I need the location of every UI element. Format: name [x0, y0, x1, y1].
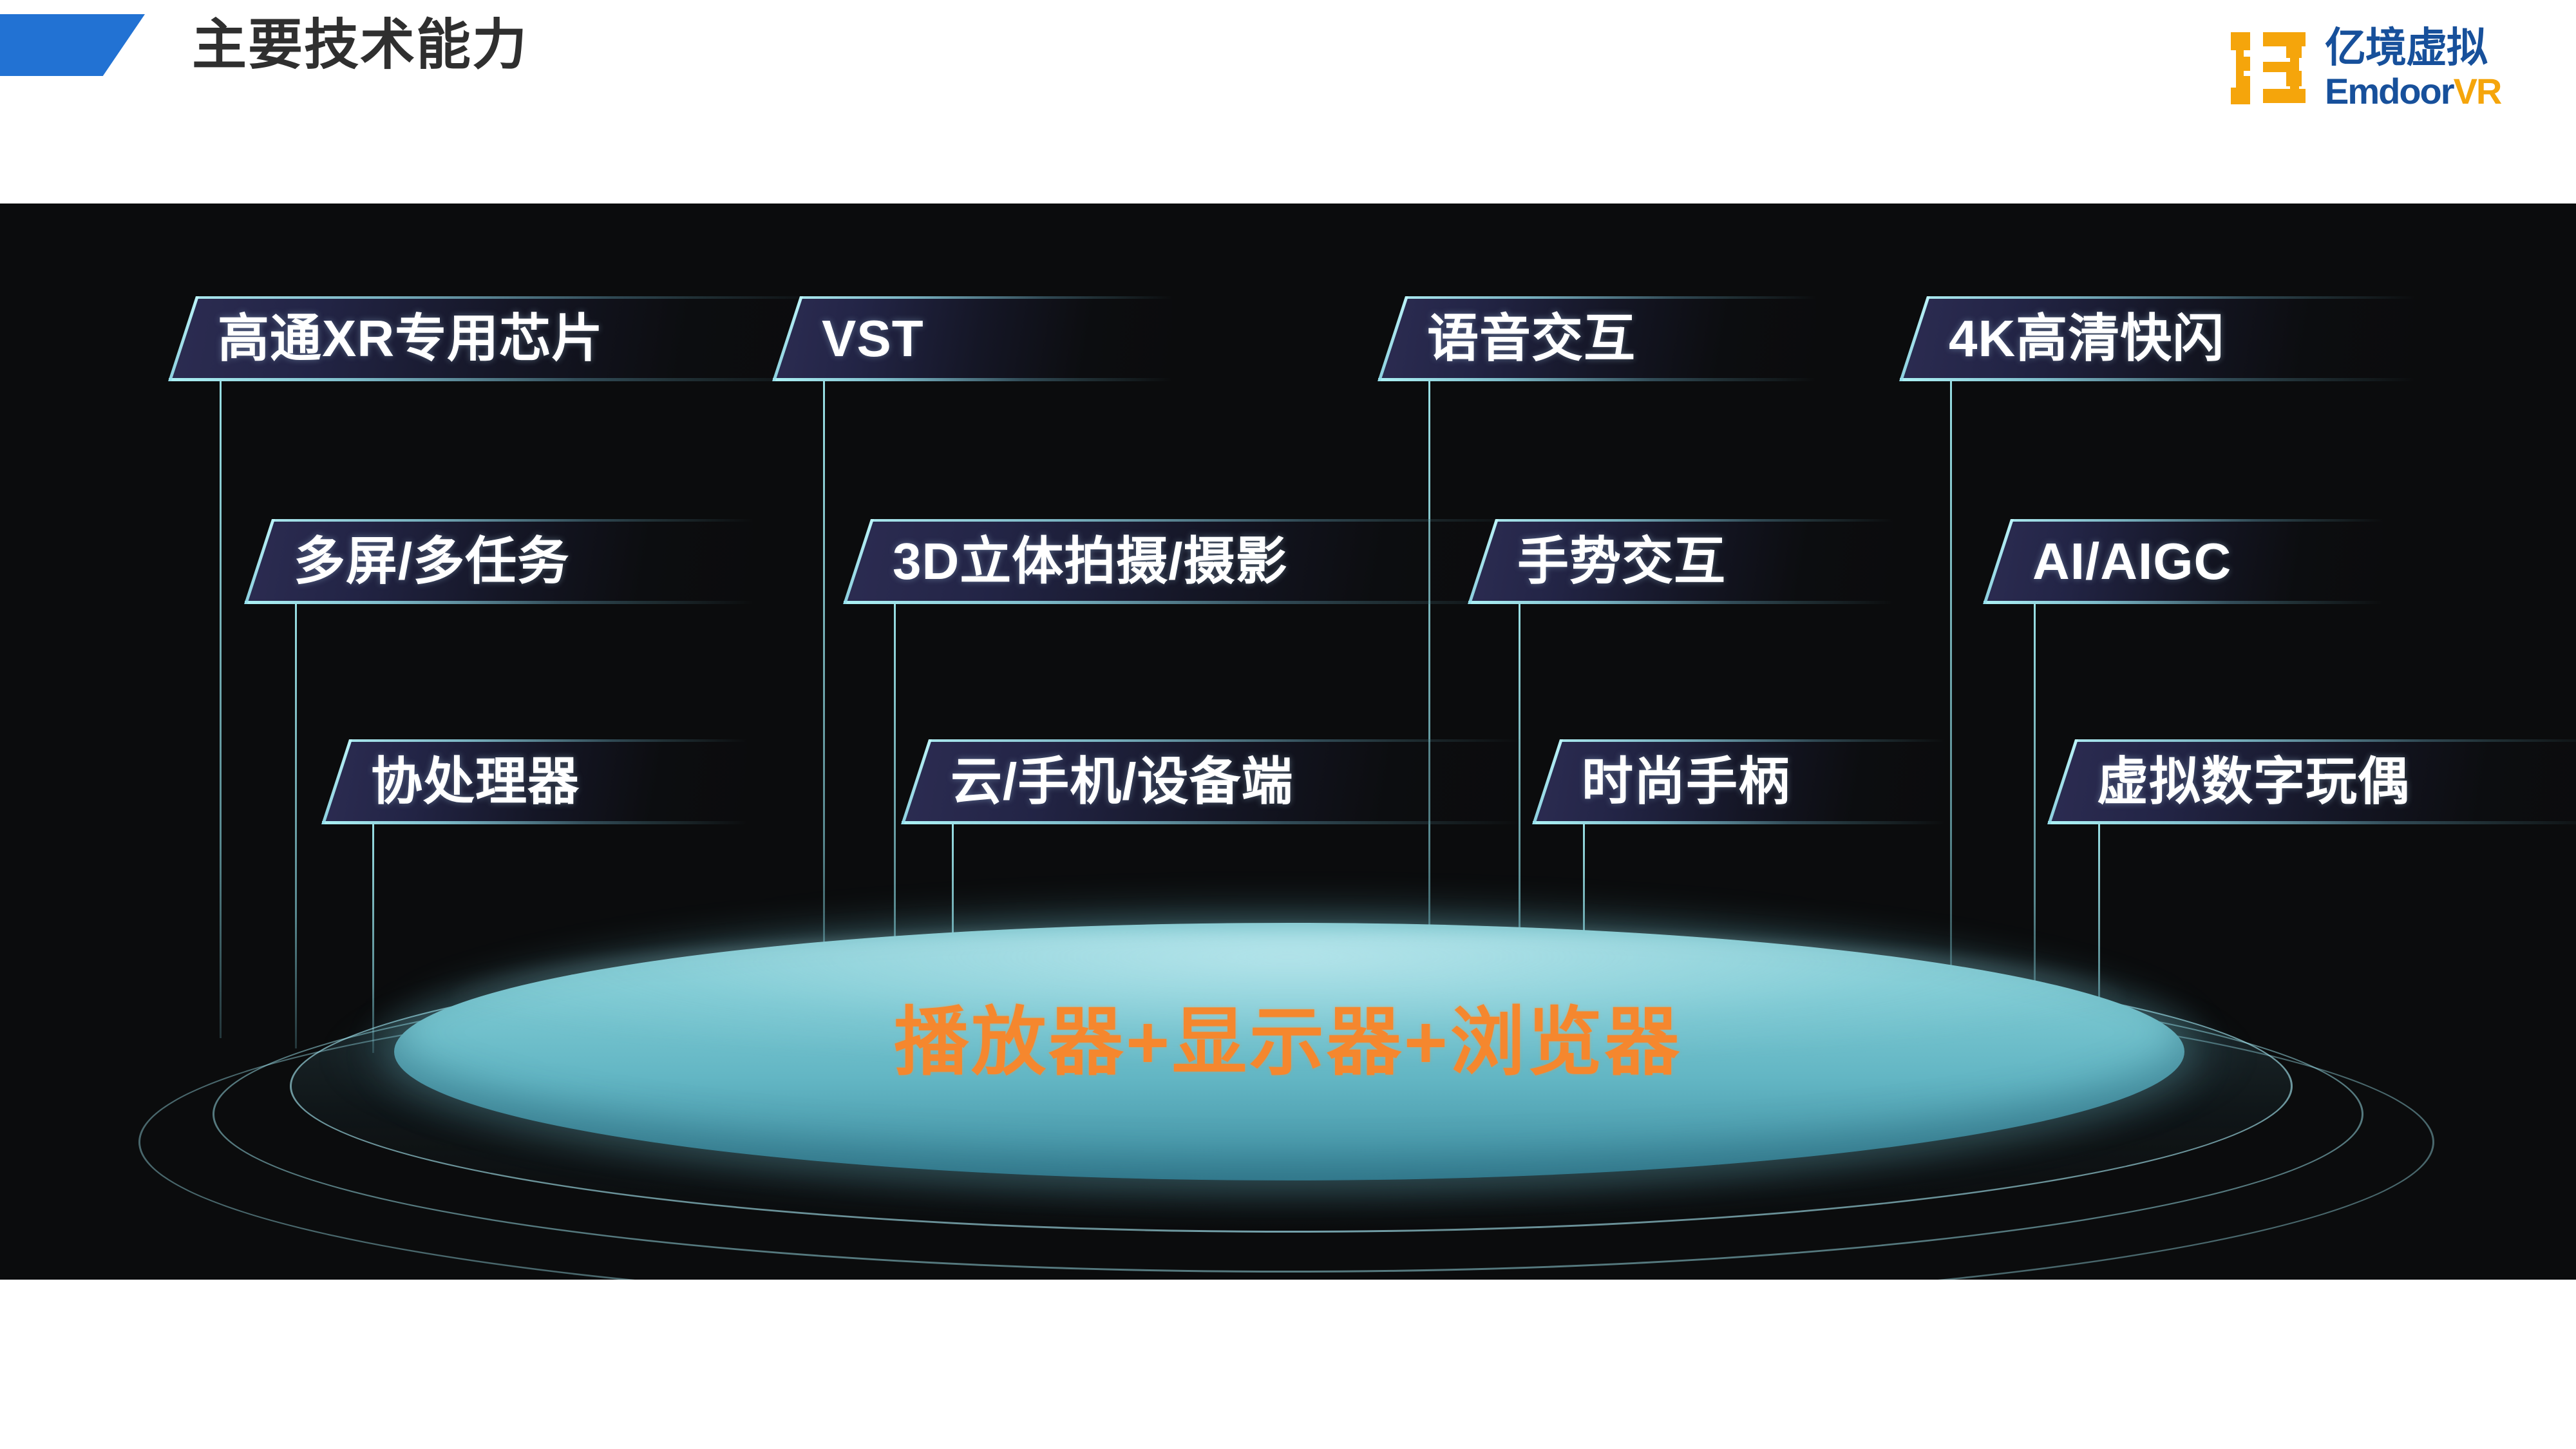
chip-label: 虚拟数字玩偶 — [2097, 739, 2410, 824]
capability-chip[interactable]: 云/手机/设备端 — [902, 739, 1520, 824]
capability-chip[interactable]: 协处理器 — [322, 739, 747, 824]
capability-chip[interactable]: 语音交互 — [1378, 296, 1816, 381]
brand-logo: 亿境虚拟 EmdoorVR — [2230, 19, 2539, 116]
connector-line — [2034, 604, 2036, 1029]
diagram-stage: 播放器+显示器+浏览器 高通XR专用芯片多屏/多任务协处理器VST3D立体拍摄/… — [0, 204, 2576, 1280]
capability-chip[interactable]: 3D立体拍摄/摄影 — [844, 519, 1526, 604]
chip-label: 3D立体拍摄/摄影 — [893, 519, 1288, 604]
connector-line — [220, 381, 222, 1038]
chip-label: 时尚手柄 — [1582, 739, 1790, 824]
capability-chip[interactable]: 手势交互 — [1468, 519, 1893, 604]
emdoor-bracket-icon — [2230, 28, 2308, 107]
logo-en-primary: Emdoor — [2325, 71, 2454, 111]
chip-label: 语音交互 — [1427, 296, 1636, 381]
capability-chip[interactable]: 多屏/多任务 — [245, 519, 753, 604]
connector-line — [823, 381, 825, 1032]
page-footer — [0, 1280, 2576, 1449]
chip-label: 4K高清快闪 — [1949, 296, 2224, 381]
page-header: 主要技术能力 亿境虚拟 EmdoorVR — [0, 0, 2576, 204]
logo-english-name: EmdoorVR — [2325, 71, 2501, 112]
core-capability-label: 播放器+显示器+浏览器 — [0, 997, 2576, 1087]
capability-chip[interactable]: 4K高清快闪 — [1900, 296, 2415, 381]
chip-label: 云/手机/设备端 — [951, 739, 1293, 824]
chip-label: 手势交互 — [1517, 519, 1726, 604]
page-title: 主要技术能力 — [192, 12, 528, 79]
capability-chip[interactable]: 虚拟数字玩偶 — [2048, 739, 2576, 824]
capability-chip[interactable]: AI/AIGC — [1984, 519, 2383, 604]
logo-chinese-name: 亿境虚拟 — [2325, 24, 2487, 71]
chip-label: VST — [822, 296, 924, 381]
capability-chip[interactable]: 高通XR专用芯片 — [169, 296, 826, 381]
chip-label: 多屏/多任务 — [294, 519, 569, 604]
header-accent-shape — [0, 14, 145, 76]
chip-label: 协处理器 — [371, 739, 580, 824]
logo-wordmark: 亿境虚拟 EmdoorVR — [2325, 19, 2537, 117]
chip-label: 高通XR专用芯片 — [218, 296, 603, 381]
connector-line — [295, 604, 297, 1048]
capability-chip[interactable]: 时尚手柄 — [1533, 739, 1945, 824]
capability-chip[interactable]: VST — [773, 296, 1172, 381]
logo-en-suffix: VR — [2454, 71, 2501, 111]
connector-line — [1950, 381, 1952, 1025]
chip-label: AI/AIGC — [2032, 519, 2231, 604]
